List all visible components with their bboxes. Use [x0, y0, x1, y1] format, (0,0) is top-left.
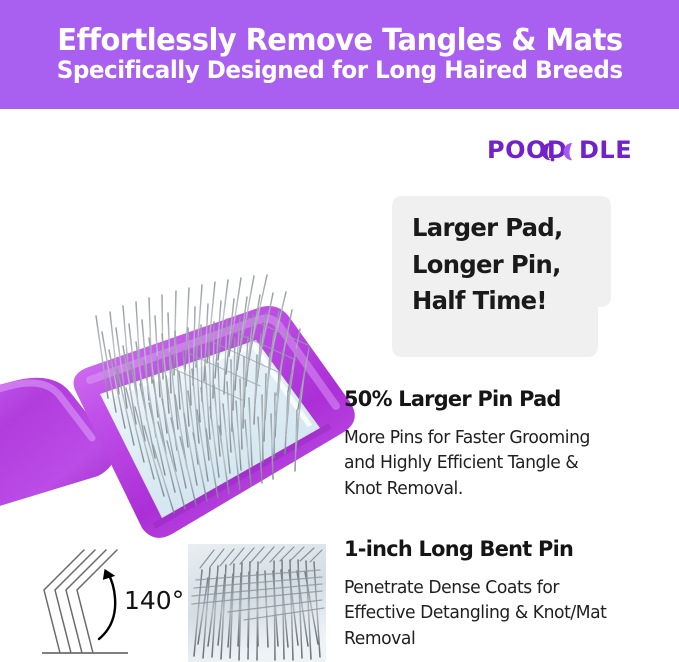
feature-title: 50% Larger Pin Pad — [344, 388, 666, 413]
feature-block-long-bent-pin: 1-inch Long Bent Pin Penetrate Dense Coa… — [344, 538, 676, 653]
bent-pin-angle-diagram: 140° — [24, 540, 194, 662]
brand-logo: POOD DLE — [487, 138, 659, 164]
feature-body-line-1: More Pins for Faster Grooming — [344, 426, 668, 452]
feature-body-line-3: Knot Removal. — [344, 477, 668, 503]
brand-logo-text-left: POOD — [487, 138, 567, 164]
feature-title: 1-inch Long Bent Pin — [344, 538, 666, 563]
speech-bubble-text: Larger Pad, Longer Pin, Half Time! — [412, 210, 601, 320]
feature-block-larger-pin-pad: 50% Larger Pin Pad More Pins for Faster … — [344, 388, 676, 503]
feature-body-line-2: Effective Detangling & Knot/Mat — [344, 601, 668, 627]
feature-body-line-2: and Highly Efficient Tangle & — [344, 451, 668, 477]
pin-closeup-photo — [188, 544, 326, 662]
brand-logo-text-right: DLE — [579, 138, 632, 164]
speech-bubble: Larger Pad, Longer Pin, Half Time! — [392, 196, 611, 357]
feature-body-line-3: Removal — [344, 627, 668, 653]
slicker-brush-photo — [0, 140, 378, 540]
banner-headline: Effortlessly Remove Tangles & Mats — [57, 25, 622, 57]
header-banner: Effortlessly Remove Tangles & Mats Speci… — [0, 0, 679, 109]
bubble-line-2: Longer Pin, — [412, 247, 595, 284]
feature-body: More Pins for Faster Grooming and Highly… — [344, 426, 676, 503]
bubble-line-3: Half Time! — [412, 283, 595, 320]
banner-subheadline: Specifically Designed for Long Haired Br… — [57, 58, 623, 84]
bubble-line-1: Larger Pad, — [412, 210, 595, 247]
angle-label: 140° — [124, 586, 184, 615]
feature-body-line-1: Penetrate Dense Coats for — [344, 576, 668, 602]
feature-body: Penetrate Dense Coats for Effective Deta… — [344, 576, 676, 653]
